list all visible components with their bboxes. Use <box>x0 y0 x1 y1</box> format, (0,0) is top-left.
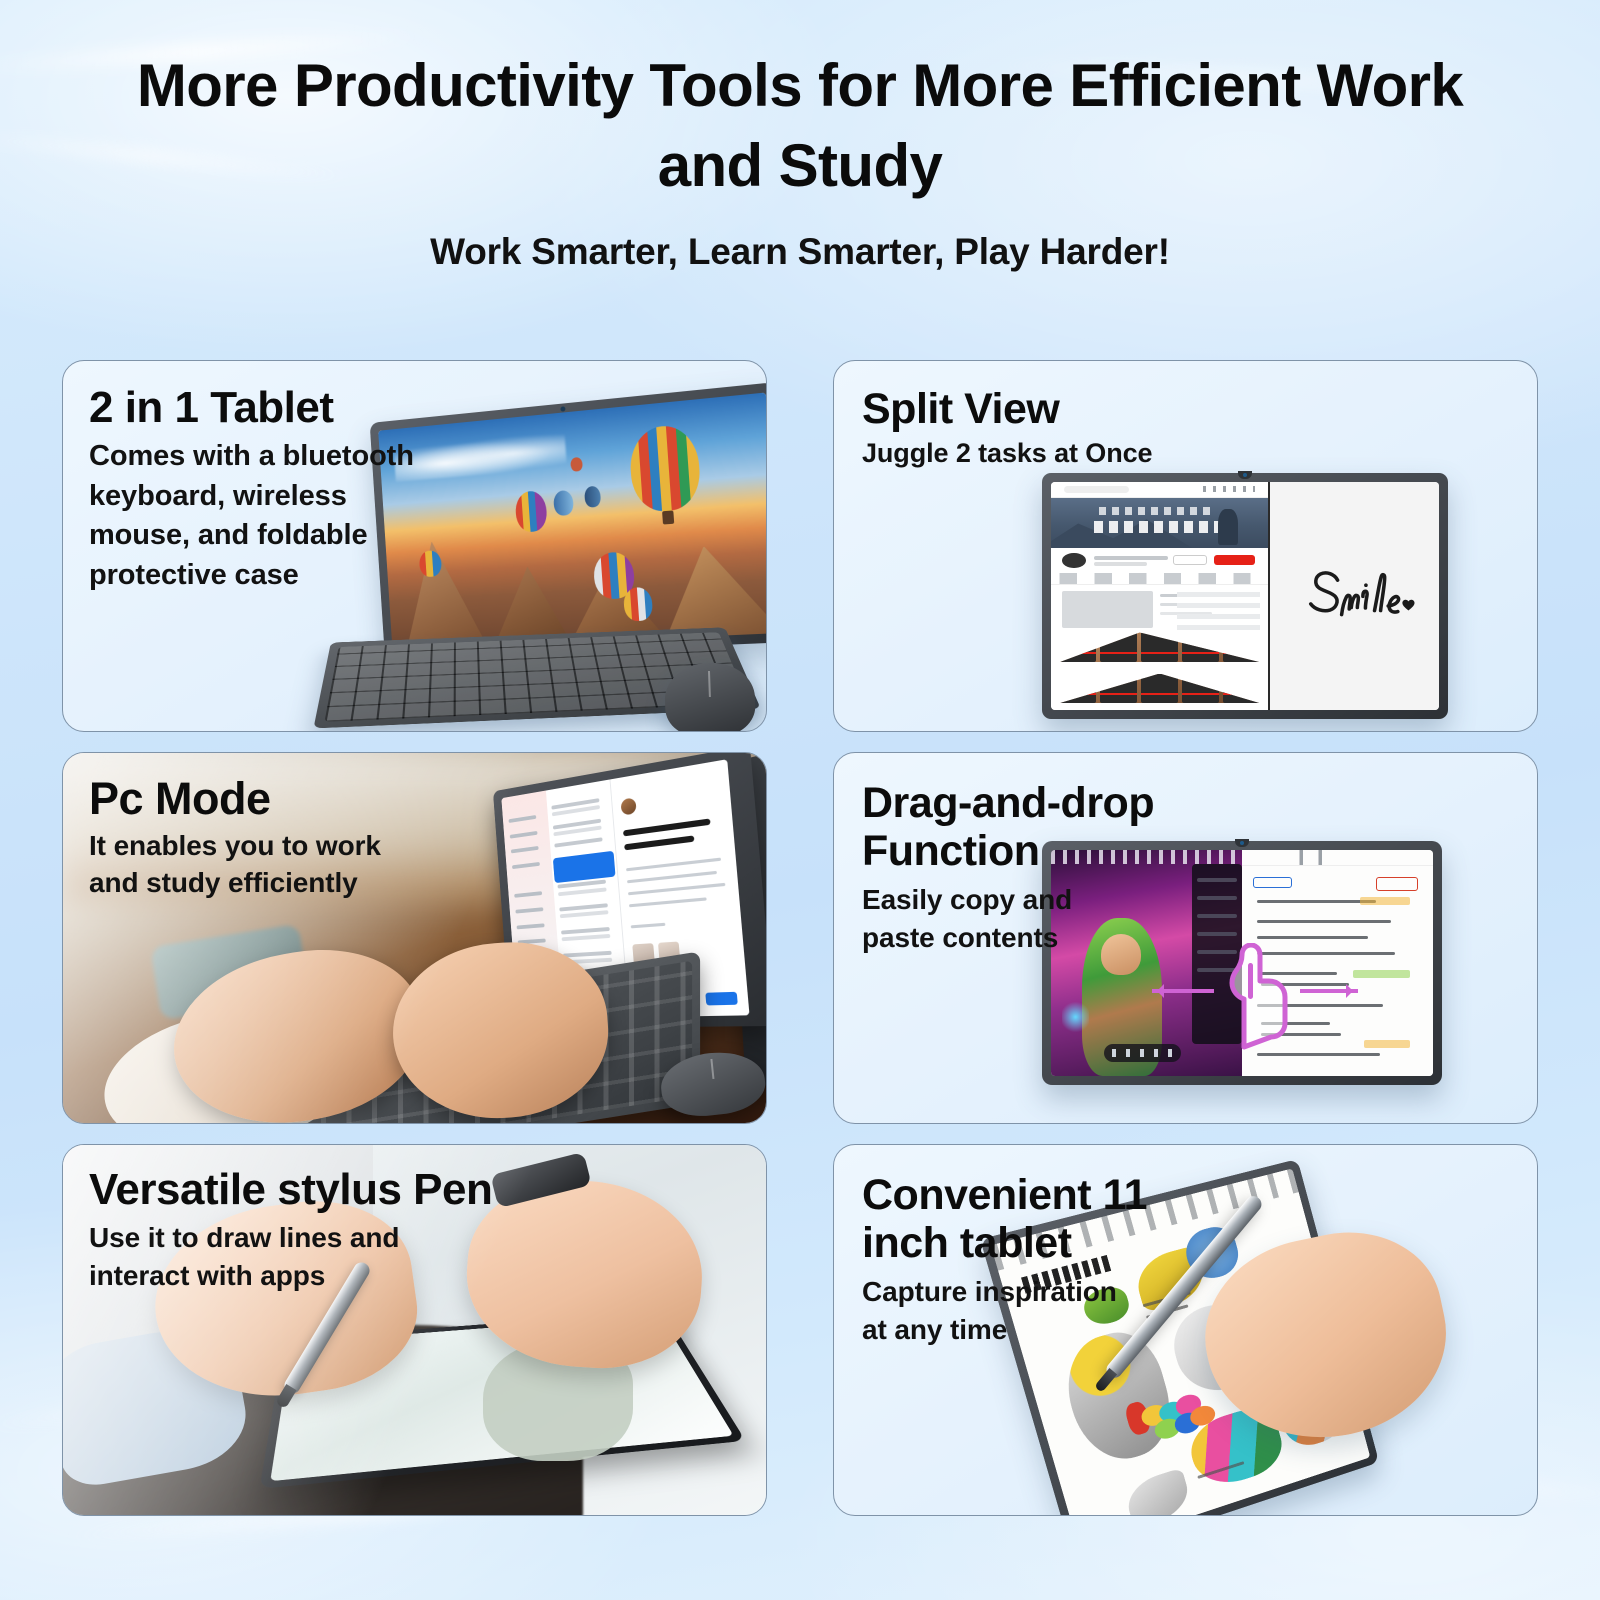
video-thumbnail[interactable] <box>1223 632 1260 662</box>
channel-banner-text-line1 <box>1099 507 1212 515</box>
camera-icon <box>1238 471 1252 479</box>
wristwatch <box>490 1152 591 1208</box>
note-pane <box>1268 482 1439 710</box>
hot-air-balloon <box>570 457 583 472</box>
hot-air-balloon <box>628 423 703 513</box>
cloud <box>394 431 567 482</box>
card-subtitle: Capture inspiration at any time <box>862 1273 1132 1348</box>
card-text-block: Versatile stylus Pen Use it to draw line… <box>89 1167 492 1294</box>
video-row <box>1060 632 1260 662</box>
protective-case-flap <box>727 752 767 1088</box>
feature-card-drag-and-drop[interactable]: Drag-and-drop Function Easily copy and p… <box>833 752 1538 1124</box>
channel-banner <box>1051 498 1268 548</box>
card-title: Drag-and-drop Function <box>862 779 1222 875</box>
note-tag-red <box>1376 877 1418 891</box>
card-text-block: 2 in 1 Tablet Comes with a bluetooth key… <box>89 385 419 595</box>
phone-on-desk <box>150 924 310 1021</box>
tablet-screen-email <box>493 752 767 1029</box>
toolbar-icons <box>1203 486 1255 492</box>
feature-card-2-in-1-tablet[interactable]: 2 in 1 Tablet Comes with a bluetooth key… <box>62 360 767 732</box>
attachment-thumbnail[interactable] <box>658 942 682 983</box>
card-text-block: Split View Juggle 2 tasks at Once <box>862 387 1152 469</box>
balloon-wallpaper <box>378 392 767 650</box>
shirt-cuff <box>62 1320 254 1491</box>
arrow-left-icon <box>1152 989 1214 993</box>
drag-gesture-icon <box>1214 943 1304 1051</box>
feature-card-split-view[interactable]: Split View Juggle 2 tasks at Once <box>833 360 1538 732</box>
tablet-screen <box>270 1315 733 1482</box>
video-thumbnail[interactable] <box>1223 674 1260 704</box>
feature-card-11-inch-tablet[interactable]: Convenient 11 inch tablet Capture inspir… <box>833 1144 1538 1516</box>
notes-toolbar[interactable] <box>1242 850 1433 866</box>
heart-icon <box>1402 599 1414 610</box>
feature-card-grid: 2 in 1 Tablet Comes with a bluetooth key… <box>62 360 1538 1516</box>
featured-video-thumbnail[interactable] <box>1062 591 1153 627</box>
reply-button[interactable] <box>706 992 739 1006</box>
handwriting-smile <box>1270 482 1439 710</box>
selected-message[interactable] <box>553 850 616 882</box>
video-thumbnail[interactable] <box>1100 632 1137 662</box>
tablet-device <box>259 1310 745 1489</box>
channel-meta <box>1094 562 1146 566</box>
wireless-mouse <box>658 1048 767 1121</box>
video-thumbnail[interactable] <box>1060 674 1097 704</box>
person-silhouette <box>1218 509 1238 545</box>
art-app-tool-dock[interactable] <box>1104 1044 1180 1062</box>
avatar <box>1062 553 1086 569</box>
feature-card-stylus-pen[interactable]: Versatile stylus Pen Use it to draw line… <box>62 1144 767 1516</box>
video-thumbnail[interactable] <box>1060 632 1097 662</box>
desk-surface <box>62 1325 583 1516</box>
page-header: More Productivity Tools for More Efficie… <box>0 0 1600 273</box>
email-subject-line2 <box>625 835 695 850</box>
channel-header <box>1051 548 1268 573</box>
tablet-screen <box>1051 482 1439 710</box>
mail-message-list <box>546 779 630 1018</box>
card-title: 2 in 1 Tablet <box>89 385 419 431</box>
wireless-mouse-illustration <box>664 661 757 732</box>
right-hand <box>461 1173 708 1375</box>
camera-icon <box>1235 839 1249 847</box>
channel-name <box>1094 556 1168 560</box>
hot-air-balloon <box>584 485 601 507</box>
rock-formation <box>660 541 767 638</box>
right-hand <box>387 936 614 1124</box>
smile-handwriting-icon <box>1289 566 1421 627</box>
keyboard-illustration <box>236 951 700 1124</box>
channel-tabs[interactable] <box>1051 573 1268 584</box>
hot-air-balloon <box>623 587 653 621</box>
feature-card-pc-mode[interactable]: Pc Mode It enables you to work and study… <box>62 752 767 1124</box>
search-input <box>1064 486 1129 493</box>
hot-air-balloon <box>553 490 574 517</box>
note-tag-blue <box>1253 877 1291 888</box>
join-button[interactable] <box>1173 555 1208 566</box>
card-subtitle: Use it to draw lines and interact with a… <box>89 1219 419 1294</box>
card-title: Convenient 11 inch tablet <box>862 1171 1202 1267</box>
screen-reflection <box>483 1341 633 1461</box>
tablet-illustration <box>370 382 767 659</box>
card-text-block: Convenient 11 inch tablet Capture inspir… <box>862 1171 1202 1348</box>
camera-icon <box>560 406 565 411</box>
page-title: More Productivity Tools for More Efficie… <box>90 46 1510 207</box>
channel-banner-text-line2 <box>1094 521 1220 533</box>
email-app-screen <box>501 759 749 1019</box>
browser-toolbar <box>1051 482 1268 498</box>
video-row <box>1060 674 1260 704</box>
mail-sidebar <box>501 791 563 1020</box>
tablet-screen <box>378 392 767 650</box>
attachment-thumbnail[interactable] <box>633 943 657 983</box>
channel-links <box>1177 589 1260 630</box>
feather-sketch <box>1122 1468 1194 1516</box>
card-subtitle: Juggle 2 tasks at Once <box>862 438 1152 469</box>
video-thumbnail[interactable] <box>1182 632 1219 662</box>
card-title: Versatile stylus Pen <box>89 1167 492 1213</box>
youtube-pane <box>1051 482 1268 710</box>
card-subtitle: It enables you to work and study efficie… <box>89 828 399 902</box>
subscribe-button[interactable] <box>1214 555 1255 566</box>
avatar <box>621 797 637 815</box>
mail-reading-pane <box>610 759 749 1017</box>
card-title: Pc Mode <box>89 775 399 822</box>
video-thumbnail[interactable] <box>1141 632 1178 662</box>
card-subtitle: Comes with a bluetooth keyboard, wireles… <box>89 437 419 595</box>
shirt-sleeve <box>92 993 344 1124</box>
email-subject-line1 <box>623 818 710 836</box>
card-text-block: Pc Mode It enables you to work and study… <box>89 775 399 902</box>
keyboard-keys <box>244 961 692 1124</box>
page-subtitle: Work Smarter, Learn Smarter, Play Harder… <box>0 231 1600 273</box>
video-thumbnail[interactable] <box>1182 674 1219 704</box>
tablet-illustration <box>1042 473 1448 719</box>
left-hand <box>160 933 435 1124</box>
hot-air-balloon <box>515 490 548 533</box>
video-thumbnail[interactable] <box>1141 674 1178 704</box>
arrow-right-icon <box>1300 989 1358 993</box>
video-thumbnail[interactable] <box>1100 674 1137 704</box>
card-text-block: Drag-and-drop Function Easily copy and p… <box>862 779 1222 956</box>
card-subtitle: Easily copy and paste contents <box>862 881 1112 956</box>
card-title: Split View <box>862 387 1152 432</box>
neon-glow <box>1062 999 1089 1035</box>
